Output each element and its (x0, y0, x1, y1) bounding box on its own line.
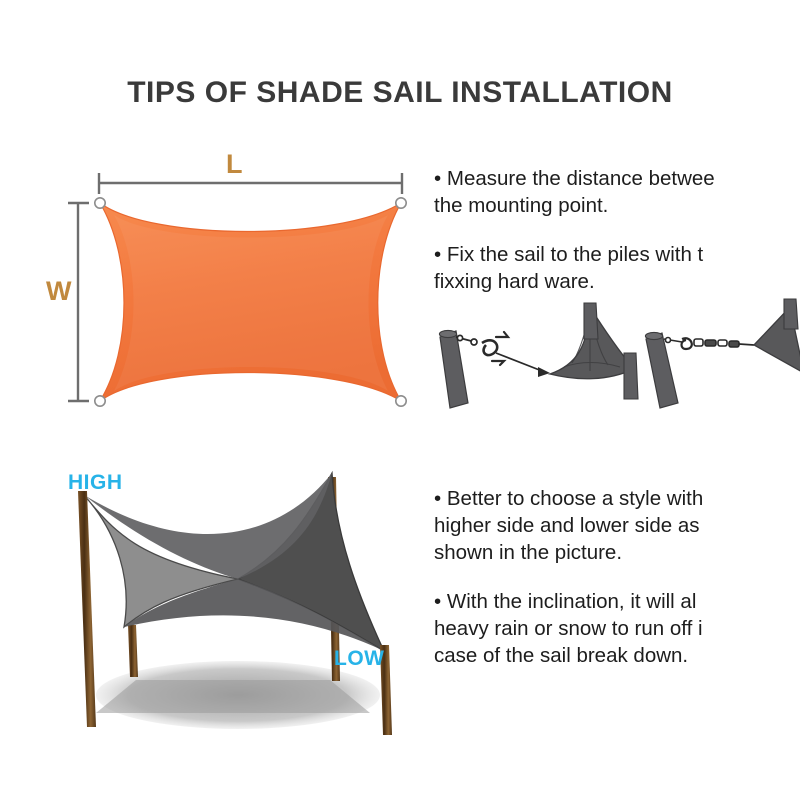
tip-line: case of the sail break down. (434, 642, 800, 669)
tip-line: • With the inclination, it will al (434, 588, 800, 615)
post-left (439, 330, 468, 408)
high-label: HIGH (68, 471, 123, 495)
tips-top-section: • Measure the distance betwee the mounti… (434, 165, 800, 420)
tips-bottom-section: • Better to choose a style with higher s… (434, 485, 800, 700)
tip-choose-style: • Better to choose a style with higher s… (434, 485, 800, 566)
low-label: LOW (334, 647, 384, 671)
shade-sail-hypar (84, 473, 384, 651)
infographic-page: TIPS OF SHADE SAIL INSTALLATION L W (0, 0, 800, 800)
tip-line: • Measure the distance betwee (434, 165, 800, 192)
page-title: TIPS OF SHADE SAIL INSTALLATION (0, 76, 800, 110)
tip-line: shown in the picture. (434, 539, 800, 566)
canopy-inclination-diagram: HIGH LOW (40, 455, 440, 755)
hardware-illustrations (438, 295, 800, 410)
ground-shadow-plate (96, 680, 370, 713)
turnbuckle-assembly-left (456, 332, 550, 377)
sail-dimension-diagram: L W (40, 145, 430, 435)
tip-line: the mounting point. (434, 192, 800, 219)
tip-line: higher side and lower side as (434, 512, 800, 539)
tip-inclination-runoff: • With the inclination, it will al heavy… (434, 588, 800, 669)
tip-line: heavy rain or snow to run off i (434, 615, 800, 642)
tip-line: • Fix the sail to the piles with t (434, 241, 800, 268)
tip-measure-distance: • Measure the distance betwee the mounti… (434, 165, 800, 219)
hardware-illustration-right (645, 299, 800, 408)
length-label: L (226, 149, 244, 180)
tip-line: • Better to choose a style with (434, 485, 800, 512)
hardware-illustration-left (439, 303, 638, 408)
width-label: W (46, 276, 72, 307)
support-post-right (784, 299, 798, 329)
tip-fix-sail-to-piles: • Fix the sail to the piles with t fixxi… (434, 241, 800, 295)
post-right (645, 332, 678, 408)
sail-highlight (114, 215, 388, 391)
orange-shade-sail-graphic (40, 145, 430, 435)
chain-assembly-right (664, 338, 754, 350)
tip-line: fixxing hard ware. (434, 268, 800, 295)
post-front-left-high (78, 491, 96, 727)
length-dimension-line (99, 173, 402, 194)
canopy-graphic (40, 455, 440, 755)
post-back-left (128, 625, 138, 677)
